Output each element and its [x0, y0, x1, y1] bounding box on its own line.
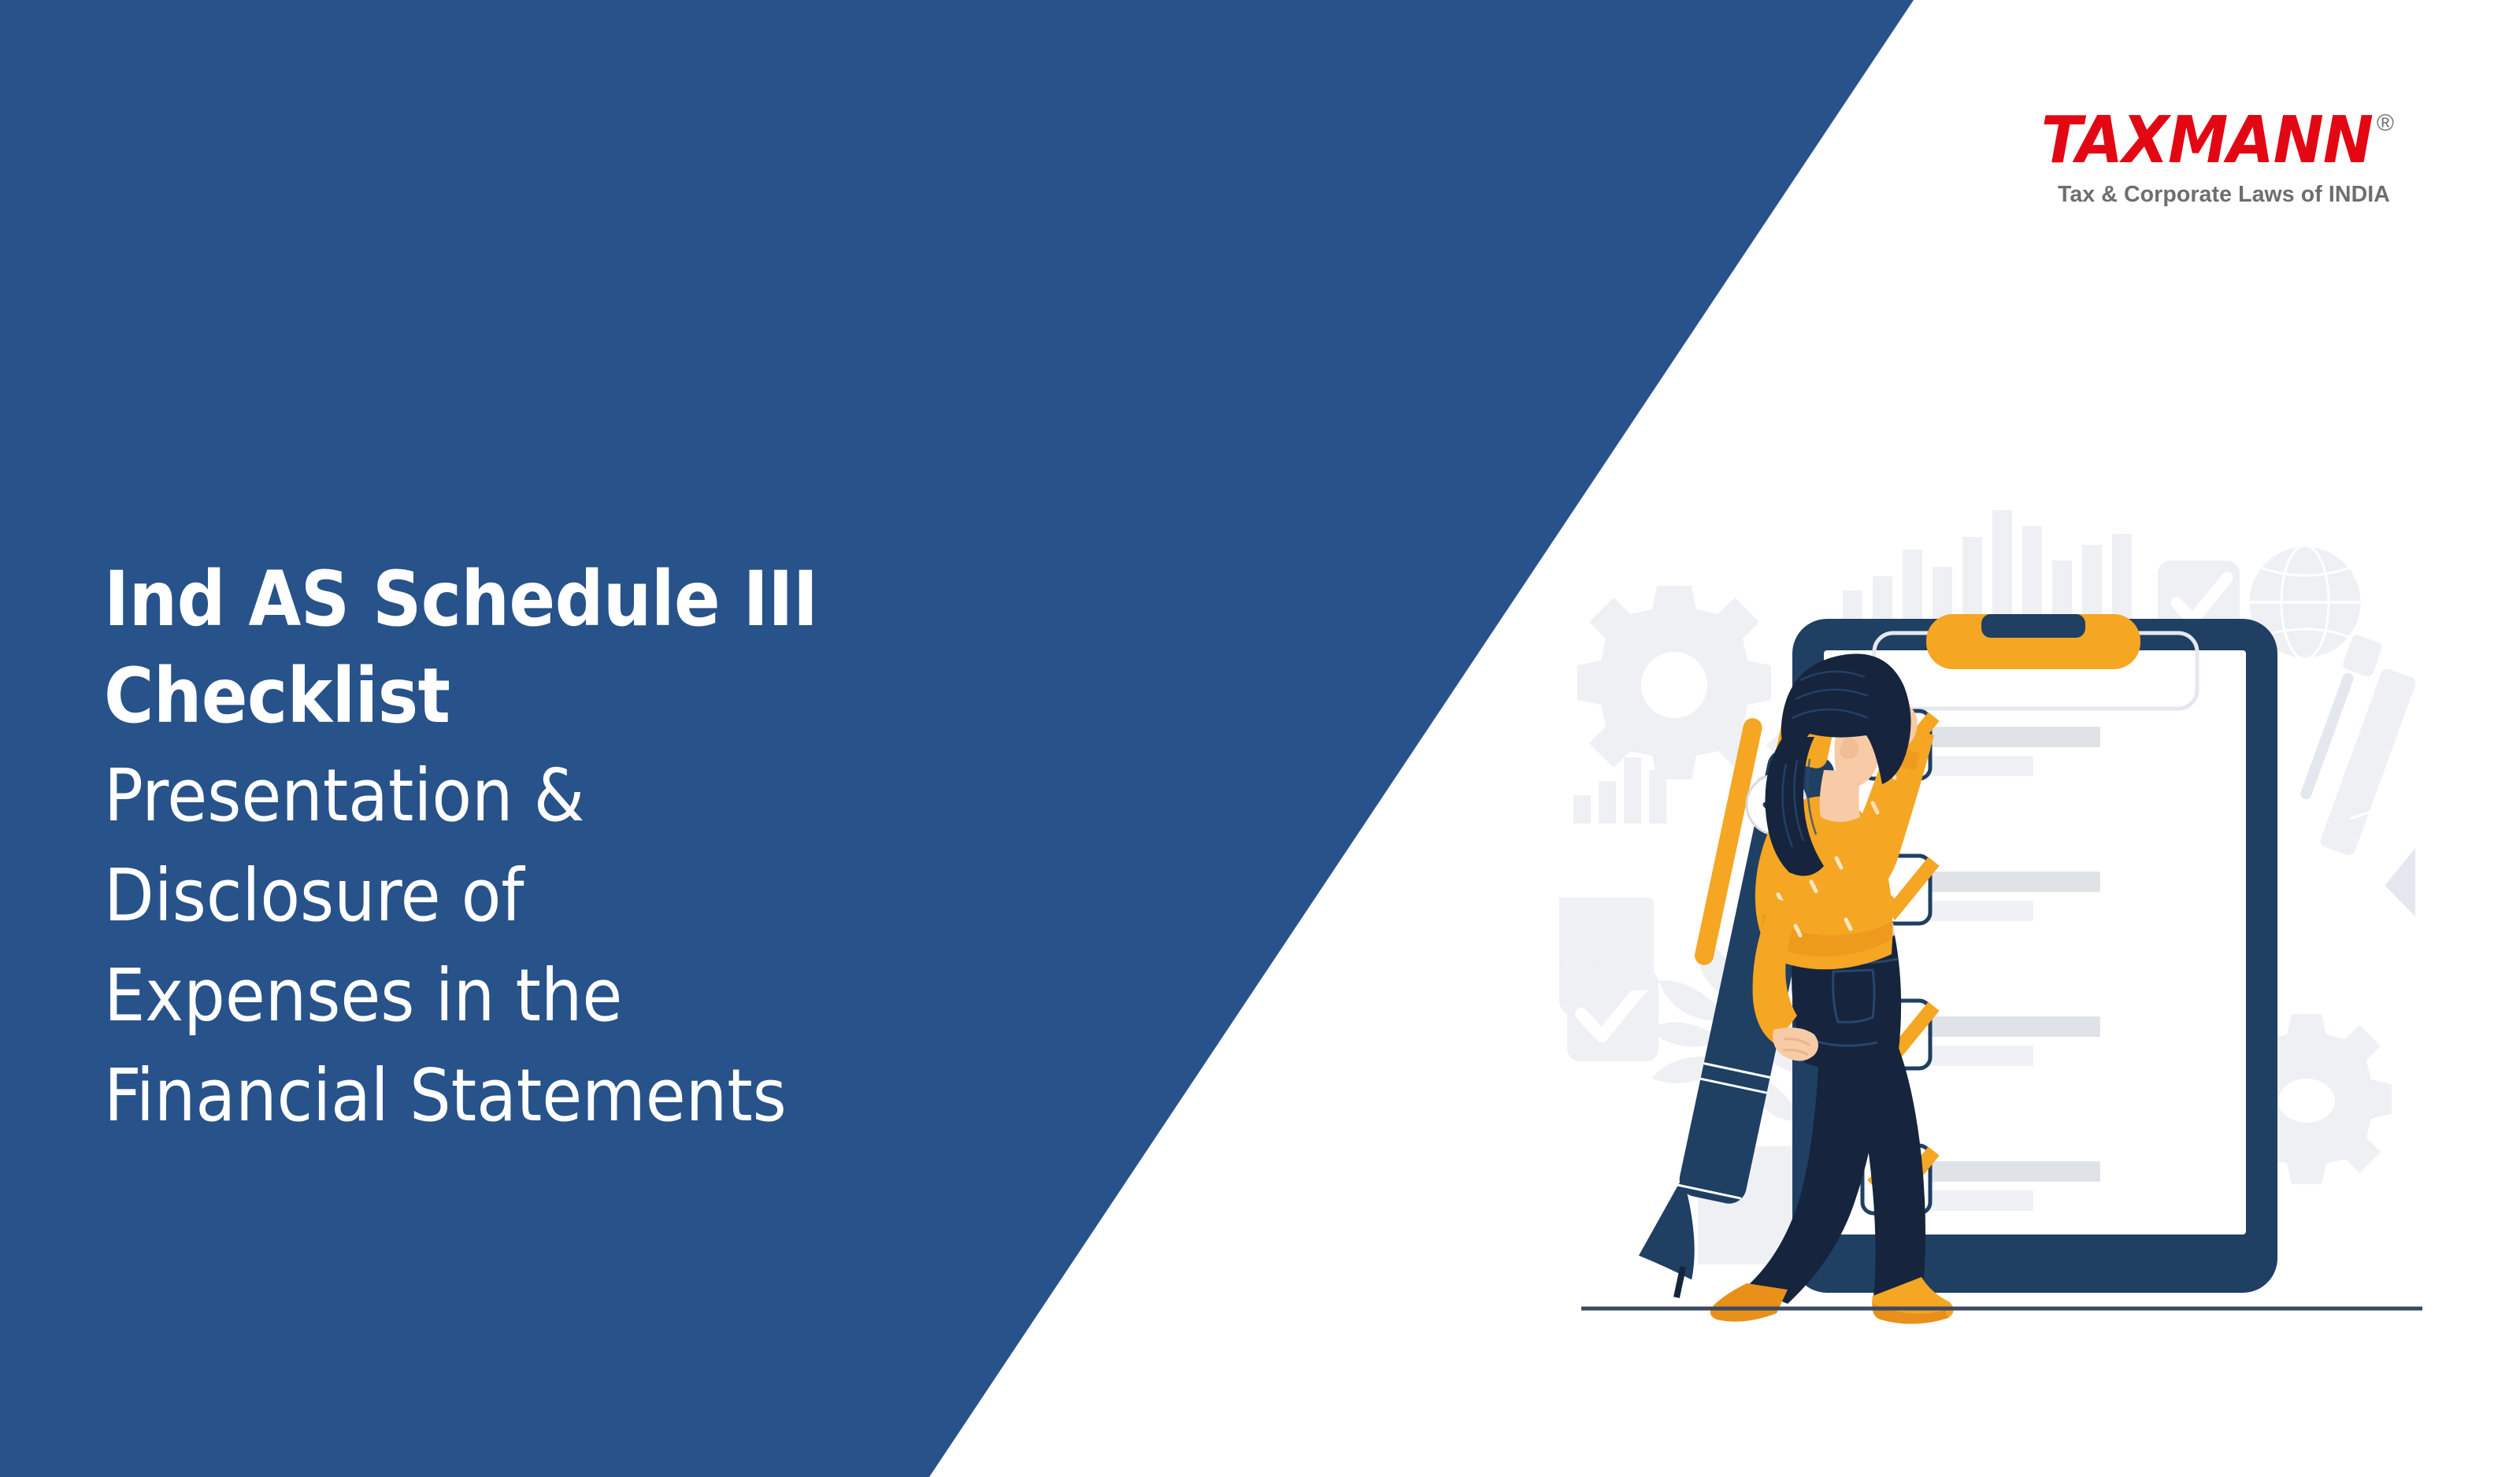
clipboard-row-line-long — [1925, 1016, 2100, 1037]
title-block: Ind AS Schedule III Checklist Presentati… — [104, 551, 1128, 1146]
clipboard-row-line-short — [1925, 1046, 2033, 1066]
clipboard-clip-notch — [1981, 614, 2085, 638]
logo-wordmark-wrap: TAXMANN ® — [2054, 110, 2394, 172]
registered-trademark-icon: ® — [2377, 112, 2394, 135]
clipboard-row-line-long — [1925, 872, 2100, 892]
bar-chart-icon-small — [1573, 757, 1666, 824]
clipboard-row-line-long — [1925, 727, 2100, 747]
clipboard-row-line-long — [1925, 1161, 2100, 1182]
shoe-back — [1710, 1283, 1788, 1322]
taxmann-logo: TAXMANN ® Tax & Corporate Laws of INDIA — [2054, 110, 2394, 208]
woman-checking-clipboard-illustration — [1559, 488, 2441, 1338]
logo-tagline: Tax & Corporate Laws of INDIA — [2054, 182, 2394, 208]
bar-chart-icon — [1843, 510, 2132, 620]
clipboard-row-line-short — [1925, 1190, 2033, 1211]
clipboard-row-line-short — [1925, 756, 2033, 776]
page-title: Ind AS Schedule III Checklist — [104, 551, 1128, 745]
pen-icon — [2299, 634, 2437, 917]
envelope-icon — [1559, 898, 1654, 990]
slide-canvas: Ind AS Schedule III Checklist Presentati… — [0, 0, 2520, 1477]
page-subtitle: Presentation & Disclosure of Expenses in… — [104, 746, 1128, 1146]
clipboard-row-line-short — [1925, 901, 2033, 921]
logo-wordmark: TAXMANN — [2041, 110, 2373, 172]
